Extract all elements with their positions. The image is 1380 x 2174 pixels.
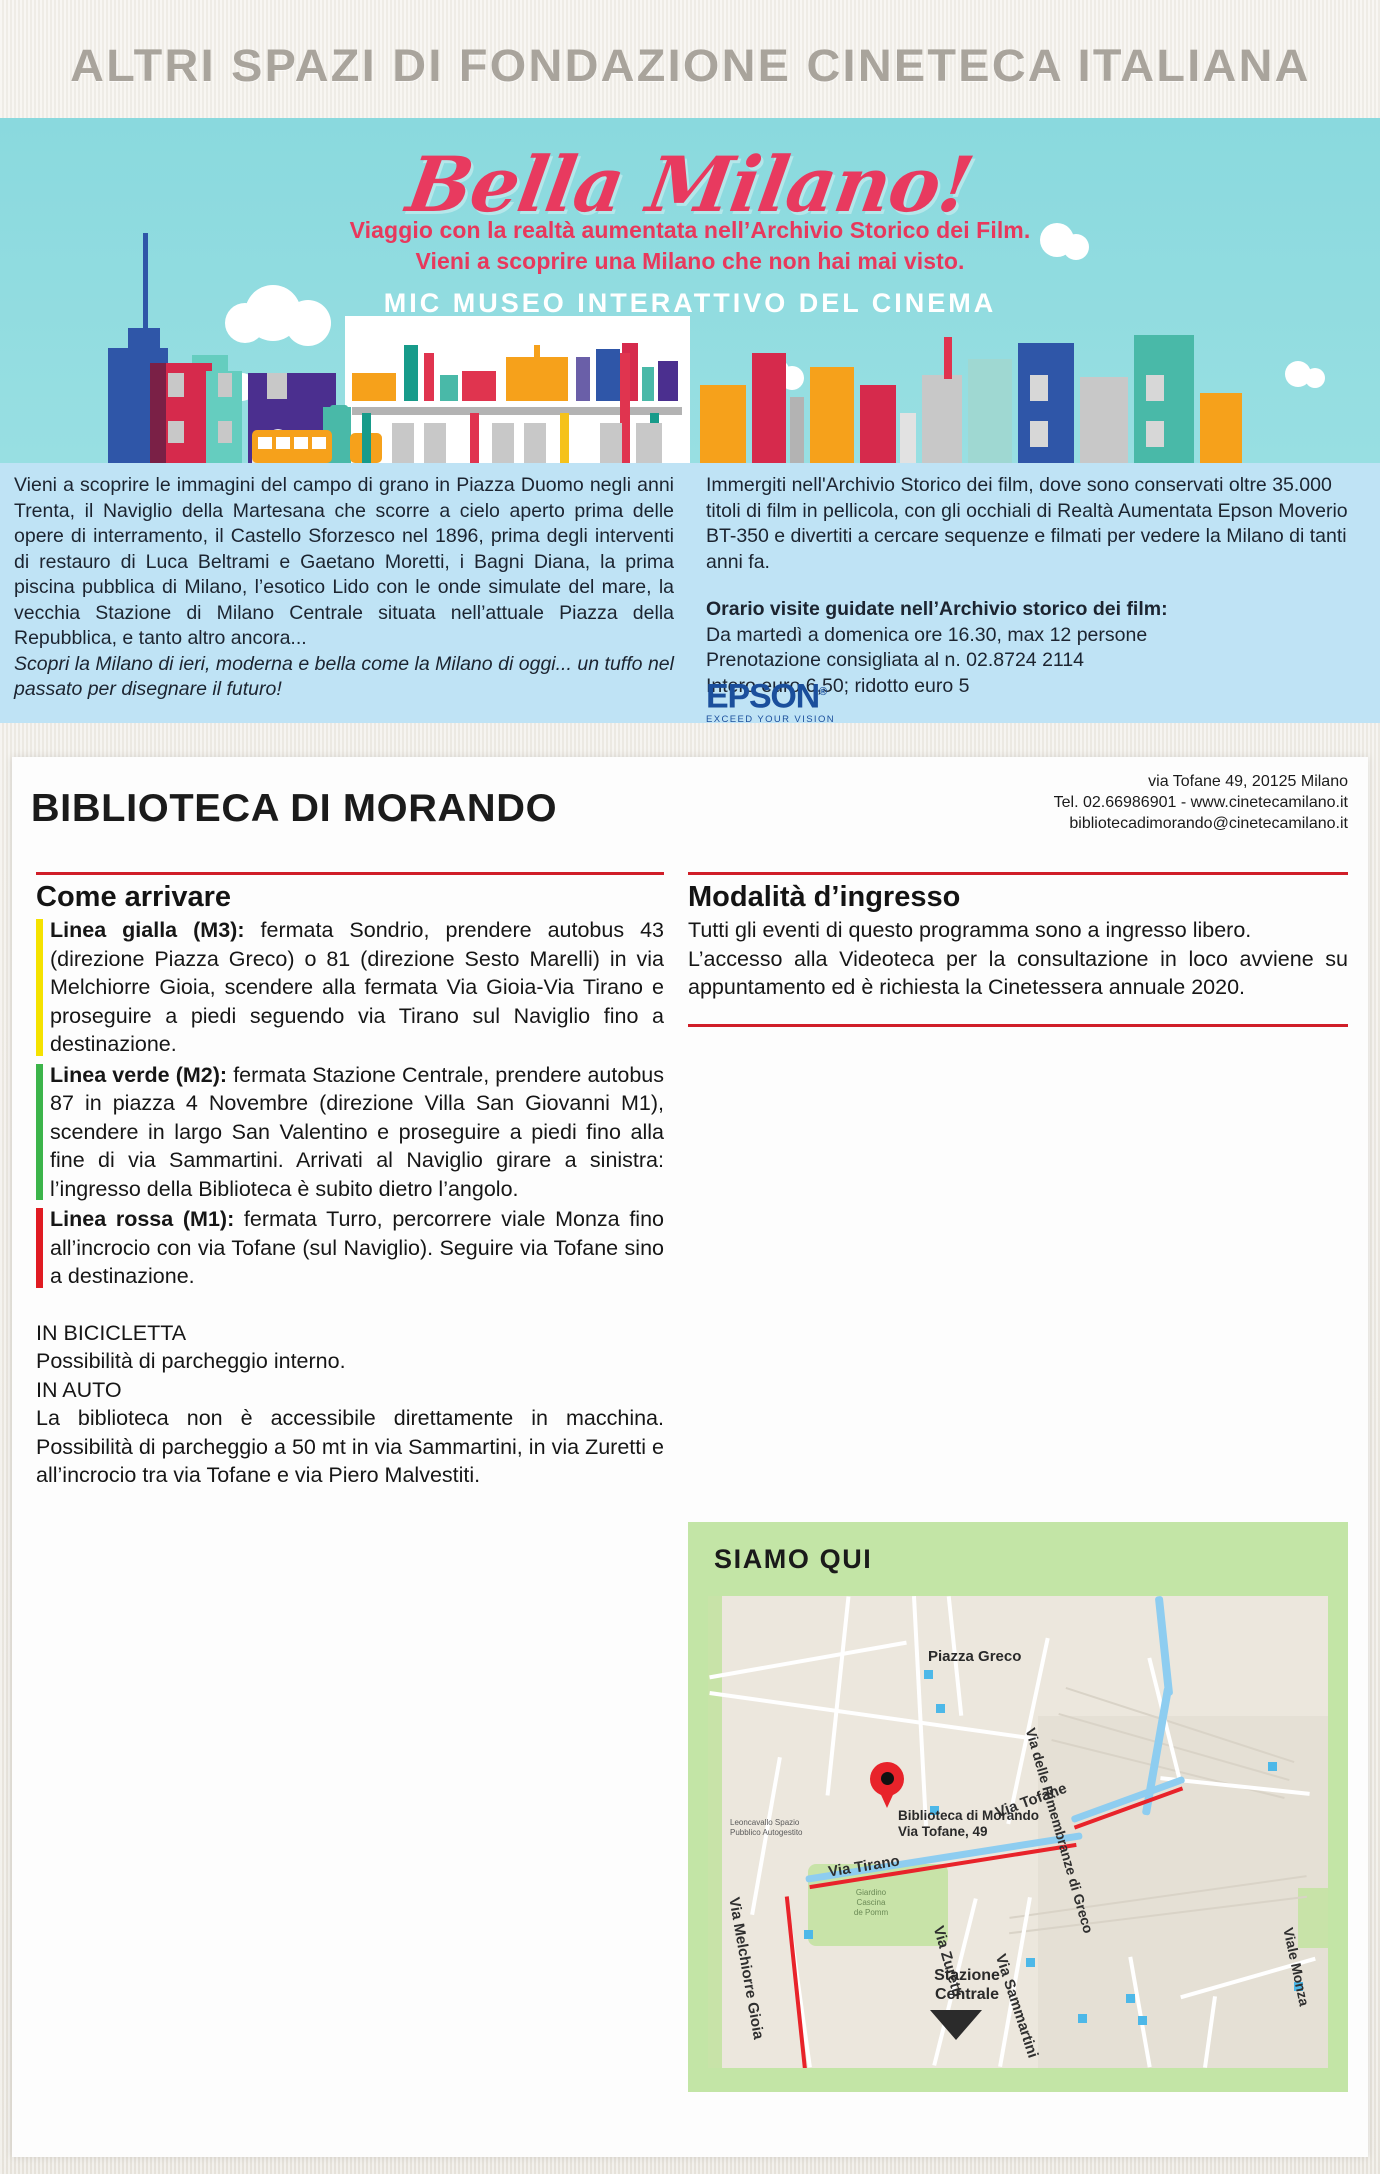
banner-subtitle-line2: Vieni a scoprire una Milano che non hai … [0, 248, 1380, 275]
skyline-monument [424, 353, 434, 401]
map-label-giardino-cascina-de-pomm: GiardinoCascinade Pomm [840, 1888, 902, 1918]
metro-line-red-label: Linea rossa (M1): [50, 1207, 234, 1231]
map-transit-stop-icon [1026, 1958, 1035, 1967]
skyline-building [700, 385, 746, 463]
skyline-window [424, 423, 446, 463]
map-label-stazione-centrale: StazioneCentrale [916, 1966, 1018, 2004]
metro-line-green: Linea verde (M2): fermata Stazione Centr… [36, 1061, 664, 1204]
metro-line-yellow-label: Linea gialla (M3): [50, 918, 245, 942]
biblioteca-card: BIBLIOTECA DI MORANDO via Tofane 49, 201… [12, 757, 1368, 2157]
skyline-window [524, 423, 546, 463]
skyline-monument [440, 375, 458, 401]
skyline-monument [462, 371, 496, 401]
skyline-window [168, 373, 184, 397]
map-transit-stop-icon [1078, 2014, 1087, 2023]
skyline-building [150, 363, 166, 463]
skyline-building [1134, 335, 1194, 463]
biblioteca-title: BIBLIOTECA DI MORANDO [31, 787, 557, 831]
skyline-ferris-wheel [944, 337, 952, 379]
skyline-duomo [506, 357, 568, 401]
map-location-pin-icon[interactable] [870, 1762, 904, 1808]
banner-venue-label: MIC MUSEO INTERATTIVO DEL CINEMA [0, 288, 1380, 319]
metro-line-red: Linea rossa (M1): fermata Turro, percorr… [36, 1205, 664, 1291]
contact-address: via Tofane 49, 20125 Milano [1054, 771, 1348, 792]
skyline-building [1080, 377, 1128, 463]
skyline-window [1030, 421, 1048, 447]
pin-tip [877, 1786, 897, 1808]
skyline-monument [576, 357, 590, 401]
map-marker-label: Biblioteca di Morando Via Tofane, 49 [898, 1808, 1039, 1840]
skyline-window [392, 423, 414, 463]
map-label-via-melchiorre-gioia: Via Melchiorre Gioia [725, 1896, 767, 2041]
contact-phone-web[interactable]: Tel. 02.66986901 - www.cinetecamilano.it [1054, 792, 1348, 813]
entry-column: Modalità d’ingresso Tutti gli eventi di … [688, 872, 1348, 1027]
skyline-building [1200, 393, 1242, 463]
skyline-window [636, 423, 662, 463]
skyline-monument [642, 367, 654, 401]
skyline-pillar [362, 413, 371, 463]
skyline-window [600, 423, 622, 463]
orario-title: Orario visite guidate nell’Archivio stor… [706, 597, 1366, 623]
entry-paragraph-1: Tutti gli eventi di questo programma son… [688, 916, 1348, 945]
skyline-viaduct [352, 407, 682, 415]
skyline-building [900, 413, 916, 463]
skyline-window [218, 373, 232, 397]
banner-script-title: Bella Milano! [0, 140, 1380, 229]
bella-milano-banner: Bella Milano! Viaggio con la realtà aume… [0, 118, 1380, 463]
bike-heading: IN BICICLETTA [36, 1319, 664, 1348]
epson-logo: EPSON® EXCEED YOUR VISION [706, 675, 835, 725]
how-to-reach-column: Come arrivare Linea gialla (M3): fermata… [36, 872, 664, 1490]
page-header: ALTRI SPAZI DI FONDAZIONE CINETECA ITALI… [0, 26, 1380, 106]
epson-name: EPSON [706, 677, 819, 715]
skyline-monument [404, 345, 418, 401]
info-left-paragraph: Vieni a scoprire le immagini del campo d… [14, 473, 674, 652]
map-transit-stop-icon [924, 1670, 933, 1679]
skyline-pillar [470, 413, 479, 463]
epson-tagline: EXCEED YOUR VISION [706, 714, 835, 725]
map-heading: SIAMO QUI [714, 1544, 872, 1575]
contact-email[interactable]: bibliotecadimorando@cinetecamilano.it [1054, 813, 1348, 834]
map-road [826, 1596, 851, 1795]
orario-line-2: Prenotazione consigliata al n. 02.8724 2… [706, 648, 1366, 674]
bike-text: Possibilità di parcheggio interno. [36, 1347, 664, 1376]
map-transit-stop-icon [1138, 2016, 1147, 2025]
map-transit-stop-icon [1268, 1762, 1277, 1771]
map-station-arrow-icon [930, 2010, 982, 2040]
how-to-reach-heading: Come arrivare [36, 881, 664, 914]
skyline-window [218, 421, 232, 443]
epson-wordmark: EPSON® [706, 675, 835, 713]
entry-heading: Modalità d’ingresso [688, 881, 1348, 914]
page-title: ALTRI SPAZI DI FONDAZIONE CINETECA ITALI… [70, 40, 1311, 92]
skyline-window [1030, 375, 1048, 401]
marker-label-line-1: Biblioteca di Morando [898, 1808, 1039, 1823]
skyline-building [752, 353, 786, 463]
divider-rule [36, 872, 664, 875]
poster-page: ALTRI SPAZI DI FONDAZIONE CINETECA ITALI… [0, 0, 1380, 2174]
map-label-piazza-greco: Piazza Greco [928, 1648, 1021, 1665]
cloud-icon [1305, 368, 1325, 388]
map-route-highlight [785, 1896, 807, 2068]
divider-rule-2 [688, 1024, 1348, 1027]
spacer [36, 1293, 664, 1319]
map-transit-stop-icon [804, 1930, 813, 1939]
map-transit-stop-icon [1126, 1994, 1135, 2003]
info-left-column: Vieni a scoprire le immagini del campo d… [14, 473, 674, 703]
map-image[interactable]: Piazza Greco Leoncavallo SpazioPubblico … [708, 1596, 1328, 2068]
info-left-italic: Scopri la Milano di ieri, moderna e bell… [14, 652, 674, 703]
info-right-column: Immergiti nell'Archivio Storico dei film… [706, 473, 1366, 699]
skyline-tram-window [276, 437, 290, 449]
map-transit-stop-icon [936, 1704, 945, 1713]
entry-paragraph-2: L’accesso alla Videoteca per la consulta… [688, 945, 1348, 1002]
info-band: Vieni a scoprire le immagini del campo d… [0, 463, 1380, 723]
info-right-paragraph: Immergiti nell'Archivio Storico dei film… [706, 473, 1366, 575]
skyline-window [1146, 375, 1164, 401]
skyline-building [810, 367, 854, 463]
skyline-duomo-spire [534, 345, 540, 363]
epson-registered: ® [819, 686, 826, 698]
skyline-tram-window [258, 437, 272, 449]
car-text: La biblioteca non è accessibile direttam… [36, 1404, 664, 1490]
skyline-monument [658, 361, 678, 401]
skyline-building [790, 397, 804, 463]
map-road [912, 1596, 928, 1826]
biblioteca-contact: via Tofane 49, 20125 Milano Tel. 02.6698… [1054, 771, 1348, 834]
metro-line-green-label: Linea verde (M2): [50, 1063, 227, 1087]
map-panel: SIAMO QUI [688, 1522, 1348, 2092]
skyline-window [1146, 421, 1164, 447]
map-label-leoncavallo: Leoncavallo SpazioPubblico Autogestito [730, 1818, 808, 1838]
map-road [709, 1691, 1036, 1741]
skyline-building [922, 375, 962, 463]
skyline-monument [596, 349, 620, 401]
skyline-building [860, 385, 896, 463]
orario-line-1: Da martedì a domenica ore 16.30, max 12 … [706, 623, 1366, 649]
pin-dot [881, 1772, 894, 1785]
skyline-window [168, 421, 184, 443]
metro-line-yellow: Linea gialla (M3): fermata Sondrio, pren… [36, 916, 664, 1059]
skyline-building [968, 359, 1012, 463]
skyline-tram-window [312, 437, 326, 449]
skyline-window [492, 423, 514, 463]
marker-label-line-2: Via Tofane, 49 [898, 1824, 988, 1839]
skyline-tram-window [294, 437, 308, 449]
skyline-monument [352, 373, 396, 401]
map-waterway-naviglio [1155, 1596, 1173, 1696]
banner-subtitle-line1: Viaggio con la realtà aumentata nell’Arc… [0, 217, 1380, 244]
skyline-pillar [560, 413, 569, 463]
skyline-window [267, 373, 287, 399]
skyline-statue [330, 405, 348, 421]
divider-rule [688, 872, 1348, 875]
map-green-area [708, 1596, 722, 2068]
car-heading: IN AUTO [36, 1376, 664, 1405]
map-road [709, 1641, 907, 1680]
